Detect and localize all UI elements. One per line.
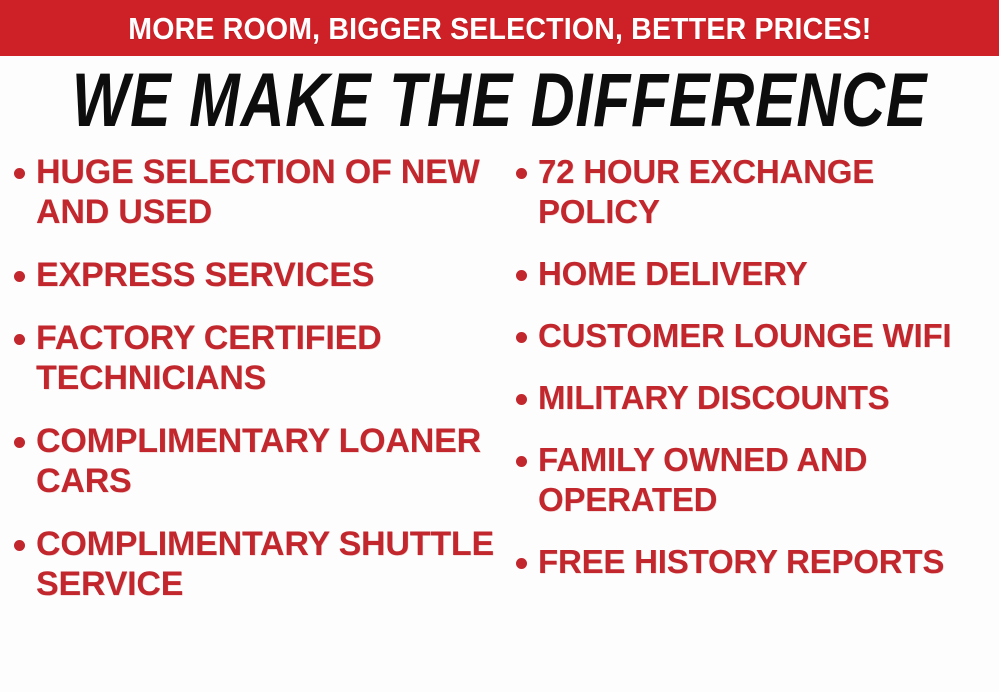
list-item-label: FAMILY OWNED AND OPERATED xyxy=(538,440,999,520)
list-item-label: COMPLIMENTARY SHUTTLE SERVICE xyxy=(36,524,500,604)
bullet-dot-icon xyxy=(14,334,25,345)
list-item-label: COMPLIMENTARY LOANER CARS xyxy=(36,421,500,501)
list-item-label: MILITARY DISCOUNTS xyxy=(538,378,999,418)
list-item-label: CUSTOMER LOUNGE WIFI xyxy=(538,316,999,356)
bullet-dot-icon xyxy=(516,456,527,467)
list-item-label: EXPRESS SERVICES xyxy=(36,255,500,295)
list-item-label: HOME DELIVERY xyxy=(538,254,999,294)
list-item: FAMILY OWNED AND OPERATED xyxy=(516,440,999,520)
benefits-column-right: 72 HOUR EXCHANGE POLICY HOME DELIVERY CU… xyxy=(500,152,999,692)
list-item-label: 72 HOUR EXCHANGE POLICY xyxy=(538,152,999,232)
list-item: MILITARY DISCOUNTS xyxy=(516,378,999,418)
list-item-label: FACTORY CERTIFIED TECHNICIANS xyxy=(36,318,500,398)
list-item-label: FREE HISTORY REPORTS xyxy=(538,542,999,582)
list-item: FACTORY CERTIFIED TECHNICIANS xyxy=(14,318,500,398)
bullet-dot-icon xyxy=(516,394,527,405)
bullet-dot-icon xyxy=(516,168,527,179)
dealership-ad-banner: MORE ROOM, BIGGER SELECTION, BETTER PRIC… xyxy=(0,0,999,692)
list-item-label: HUGE SELECTION OF NEW AND USED xyxy=(36,152,500,232)
list-item: 72 HOUR EXCHANGE POLICY xyxy=(516,152,999,232)
bullet-dot-icon xyxy=(516,270,527,281)
benefits-column-left: HUGE SELECTION OF NEW AND USED EXPRESS S… xyxy=(0,152,500,692)
bullet-dot-icon xyxy=(516,558,527,569)
list-item: HUGE SELECTION OF NEW AND USED xyxy=(14,152,500,232)
headline-container: WE MAKE THE DIFFERENCE xyxy=(0,62,999,140)
bullet-dot-icon xyxy=(14,437,25,448)
benefits-columns: HUGE SELECTION OF NEW AND USED EXPRESS S… xyxy=(0,152,999,692)
list-item: EXPRESS SERVICES xyxy=(14,255,500,295)
bullet-dot-icon xyxy=(14,540,25,551)
bullet-dot-icon xyxy=(14,271,25,282)
bullet-dot-icon xyxy=(516,332,527,343)
list-item: FREE HISTORY REPORTS xyxy=(516,542,999,582)
promo-banner: MORE ROOM, BIGGER SELECTION, BETTER PRIC… xyxy=(0,0,999,56)
list-item: CUSTOMER LOUNGE WIFI xyxy=(516,316,999,356)
list-item: COMPLIMENTARY SHUTTLE SERVICE xyxy=(14,524,500,604)
list-item: COMPLIMENTARY LOANER CARS xyxy=(14,421,500,501)
page-title: WE MAKE THE DIFFERENCE xyxy=(72,63,927,139)
bullet-dot-icon xyxy=(14,168,25,179)
promo-banner-text: MORE ROOM, BIGGER SELECTION, BETTER PRIC… xyxy=(128,13,871,44)
list-item: HOME DELIVERY xyxy=(516,254,999,294)
